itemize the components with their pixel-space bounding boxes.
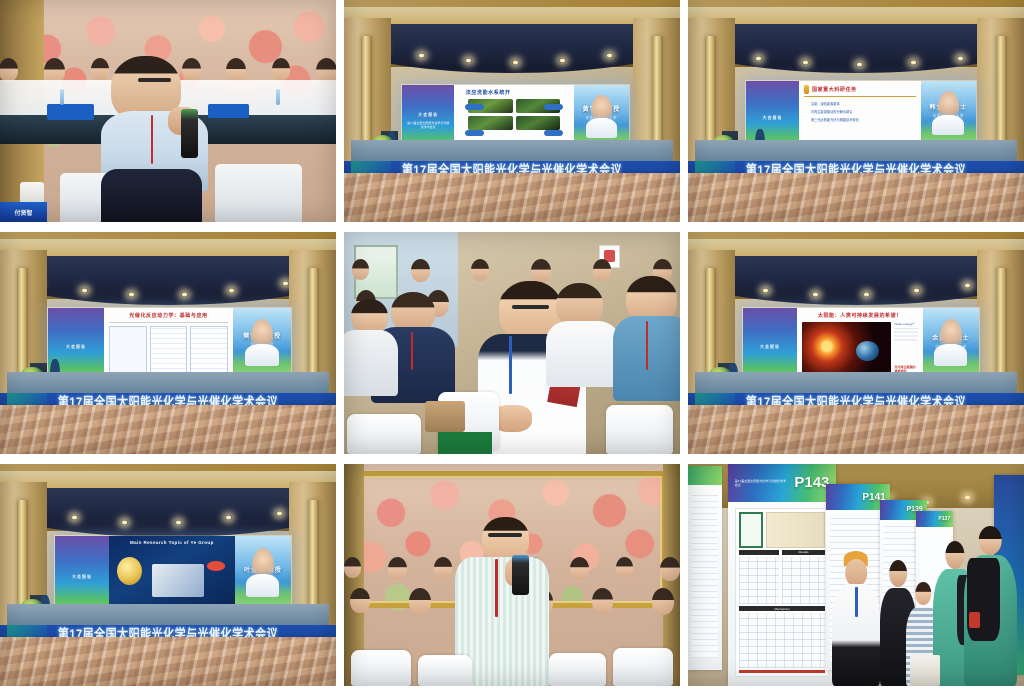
slide-sun-graphic xyxy=(117,557,142,585)
water-bottle xyxy=(60,89,64,105)
photo-cell-4[interactable]: 大会报告 光催化反应动力学：基础与应用 樊宏鹏 教授 浙江工业大学 xyxy=(0,232,336,454)
table-placard-back xyxy=(47,104,94,120)
photo-cell-9[interactable]: 第17届全国太阳能光化学与光催化学术会议 P143 xyxy=(688,464,1024,686)
poster-header-p143: 第17届全国太阳能光化学与光催化学术会议 P143 xyxy=(728,464,836,502)
chair-3 xyxy=(606,405,673,454)
slide-bullet-2: 可再生能源驱动的分解水制氢 xyxy=(811,109,916,114)
lanyard xyxy=(151,115,153,164)
nameplate[interactable]: 付贤智 xyxy=(0,202,47,222)
earth-graphic xyxy=(856,341,879,361)
photo-6-stage-sun-slide: 大会报告 太阳能：人类可持续发展的希望！ Clean energy? xyxy=(688,232,1024,454)
questioner-glasses xyxy=(488,533,522,537)
attendee-body-farleft xyxy=(344,330,398,397)
slide-marker xyxy=(207,561,225,571)
screen-left-title: 大会报告 xyxy=(763,115,783,121)
carpet-floor xyxy=(0,637,336,686)
attendee-head xyxy=(945,541,964,569)
poster-board-p143[interactable]: 第17届全国太阳能光化学与光催化学术会议 P143 xyxy=(728,464,836,686)
photo-cell-7[interactable]: 大会报告 Main Research Topic of Ye Group 叶金花… xyxy=(0,464,336,686)
attendee-head-left xyxy=(391,292,435,332)
handbag xyxy=(425,401,465,432)
photo-cell-6[interactable]: 大会报告 太阳能：人类可持续发展的希望！ Clean energy? xyxy=(688,232,1024,454)
poster-number-p137: P137 xyxy=(938,516,950,522)
foreground-attendee-glasses xyxy=(512,305,549,309)
chair-1 xyxy=(351,650,411,686)
speaker-lap xyxy=(101,169,202,222)
chair-2 xyxy=(418,655,472,686)
carpet-floor xyxy=(0,405,336,454)
photo-2-stage-led-screen: 大会报告 第17届全国太阳能光化学与光催化学术会议 法应洗能水系统开 xyxy=(344,0,680,222)
attendee-front-backpack xyxy=(964,526,1018,686)
photo-1-seated-speaker: 付贤智 xyxy=(0,0,336,222)
attendee-head xyxy=(845,559,867,587)
photo-cell-3[interactable]: 大会报告 国家重大科研任务 氢能：绿色能源载体 可再生能源驱动的分解水制氢 第三… xyxy=(688,0,1024,222)
slide-title: 国家重大科研任务 xyxy=(812,86,857,93)
backpack-accent xyxy=(969,612,980,628)
slide-bullet-icon xyxy=(804,85,809,94)
slide-bullet-1: 氢能：绿色能源载体 xyxy=(811,101,916,106)
photo-collage: 付贤智 大会报告 第17届全国太阳能光化学与光催化学术会议 xyxy=(0,0,1024,694)
slide-title: 光催化反应动力学：基础与应用 xyxy=(109,312,228,319)
photo-cell-1[interactable]: 付贤智 xyxy=(0,0,336,222)
backpack-icon xyxy=(967,558,1000,641)
attendee-lanyard xyxy=(855,587,858,617)
slide-title: 法应洗能水系统开 xyxy=(466,89,569,96)
photo-9-poster-session: 第17届全国太阳能光化学与光催化学术会议 P143 xyxy=(688,464,1024,686)
foreground-lanyard xyxy=(509,336,512,394)
slide-note: Clean energy? xyxy=(894,322,917,326)
poster-section-results: Results xyxy=(798,550,808,554)
screen-left-title: 大会报告 xyxy=(72,574,92,580)
nameplate-text: 付贤智 xyxy=(15,208,33,217)
questioner-lanyard xyxy=(495,559,498,617)
carpet-floor xyxy=(688,405,1024,454)
chair-1 xyxy=(347,414,421,454)
poster-header-p137: P137 xyxy=(916,511,953,528)
screen-left-title: 大会报告 xyxy=(760,344,780,350)
poster-number-p143: P143 xyxy=(794,474,829,491)
attendee-with-cap xyxy=(832,548,879,686)
photo-cell-8[interactable] xyxy=(344,464,680,686)
slide-title: Main Research Topic of Ye Group xyxy=(114,540,229,545)
photo-7-stage-research-topic: 大会报告 Main Research Topic of Ye Group 叶金花… xyxy=(0,464,336,686)
attendee-head xyxy=(979,526,1002,555)
carpet-floor xyxy=(688,173,1024,222)
attendee-head xyxy=(915,582,930,605)
photo-cell-2[interactable]: 大会报告 第17届全国太阳能光化学与光催化学术会议 法应洗能水系统开 xyxy=(344,0,680,222)
poster-header-title: 第17届全国太阳能光化学与光催化学术会议 xyxy=(735,479,789,487)
attendee-body-right xyxy=(546,321,620,388)
screen-left-title: 大会报告 xyxy=(418,112,438,118)
poster-board-edge[interactable] xyxy=(688,466,722,670)
tea-cup xyxy=(20,182,44,204)
carpet-floor xyxy=(344,173,680,222)
microphone xyxy=(512,555,529,595)
armchair-right xyxy=(215,164,302,222)
lanyard-left xyxy=(411,332,413,370)
sun-earth-image xyxy=(802,322,891,372)
photo-cell-5[interactable] xyxy=(344,232,680,454)
photo-5-audience-closeup xyxy=(344,232,680,454)
screen-left-sub: 第17届全国太阳能光化学与光催化学术会议 xyxy=(406,121,450,130)
poster-section-mechanism: Mechanism xyxy=(774,607,789,611)
table-placard-back-2 xyxy=(208,104,248,117)
microphone xyxy=(181,109,198,158)
tote-bag xyxy=(910,655,940,686)
slide-center-graphic xyxy=(152,564,205,597)
program-booklet xyxy=(438,432,492,454)
slide-title: 太阳能：人类可持续发展的希望！ xyxy=(802,312,917,319)
slide-table-grid xyxy=(109,326,228,375)
attendee-head-farleft xyxy=(351,299,388,335)
eyeglasses xyxy=(138,78,172,82)
water-bottle-2 xyxy=(276,89,280,105)
photo-8-standing-questioner xyxy=(344,464,680,686)
chair-4 xyxy=(613,648,673,686)
photo-3-stage-bullets: 大会报告 国家重大科研任务 氢能：绿色能源载体 可再生能源驱动的分解水制氢 第三… xyxy=(688,0,1024,222)
screen-left-title: 大会报告 xyxy=(66,344,86,350)
chair-3 xyxy=(549,653,606,686)
slide-bullet-3: 第三代太阳能光伏与储能技术转化 xyxy=(811,117,916,122)
attendee-head xyxy=(889,560,907,587)
poster-content-p143: Results Mechanism xyxy=(735,508,830,677)
photo-4-stage-data-slide: 大会报告 光催化反应动力学：基础与应用 樊宏鹏 教授 浙江工业大学 xyxy=(0,232,336,454)
